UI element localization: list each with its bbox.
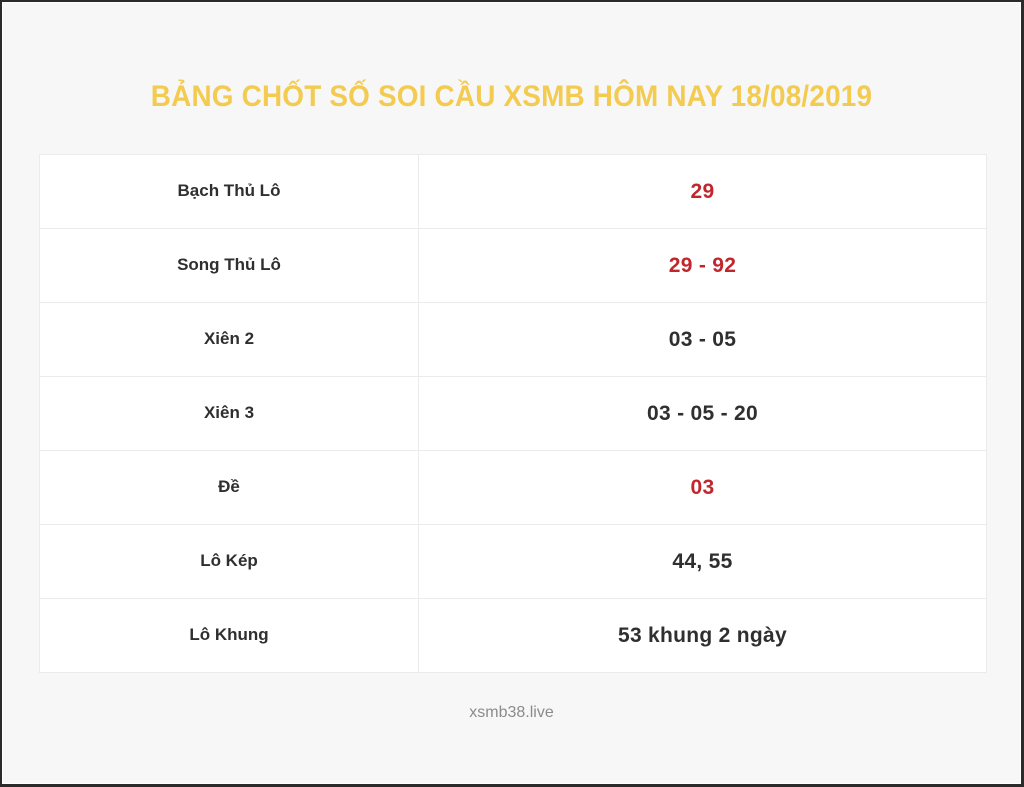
row-label: Bạch Thủ Lô xyxy=(40,155,419,228)
table-row: Lô Khung 53 khung 2 ngày xyxy=(40,599,986,672)
row-label: Xiên 3 xyxy=(40,377,419,450)
row-value: 44, 55 xyxy=(419,525,986,598)
table-row: Song Thủ Lô 29 - 92 xyxy=(40,229,986,303)
site-watermark: xsmb38.live xyxy=(2,704,1021,722)
prediction-table: Bạch Thủ Lô 29 Song Thủ Lô 29 - 92 Xiên … xyxy=(39,154,987,673)
row-label: Đề xyxy=(40,451,419,524)
row-label: Xiên 2 xyxy=(40,303,419,376)
row-value: 29 - 92 xyxy=(419,229,986,302)
row-value: 03 xyxy=(419,451,986,524)
row-value: 53 khung 2 ngày xyxy=(419,599,986,672)
row-label: Lô Khung xyxy=(40,599,419,672)
row-value: 03 - 05 xyxy=(419,303,986,376)
row-label: Lô Kép xyxy=(40,525,419,598)
table-row: Đề 03 xyxy=(40,451,986,525)
table-row: Lô Kép 44, 55 xyxy=(40,525,986,599)
table-row: Xiên 3 03 - 05 - 20 xyxy=(40,377,986,451)
row-value: 29 xyxy=(419,155,986,228)
page-frame: BẢNG CHỐT SỐ SOI CẦU XSMB HÔM NAY 18/08/… xyxy=(2,2,1021,784)
table-row: Bạch Thủ Lô 29 xyxy=(40,155,986,229)
page-title: BẢNG CHỐT SỐ SOI CẦU XSMB HÔM NAY 18/08/… xyxy=(38,80,986,114)
table-row: Xiên 2 03 - 05 xyxy=(40,303,986,377)
row-value: 03 - 05 - 20 xyxy=(419,377,986,450)
row-label: Song Thủ Lô xyxy=(40,229,419,302)
